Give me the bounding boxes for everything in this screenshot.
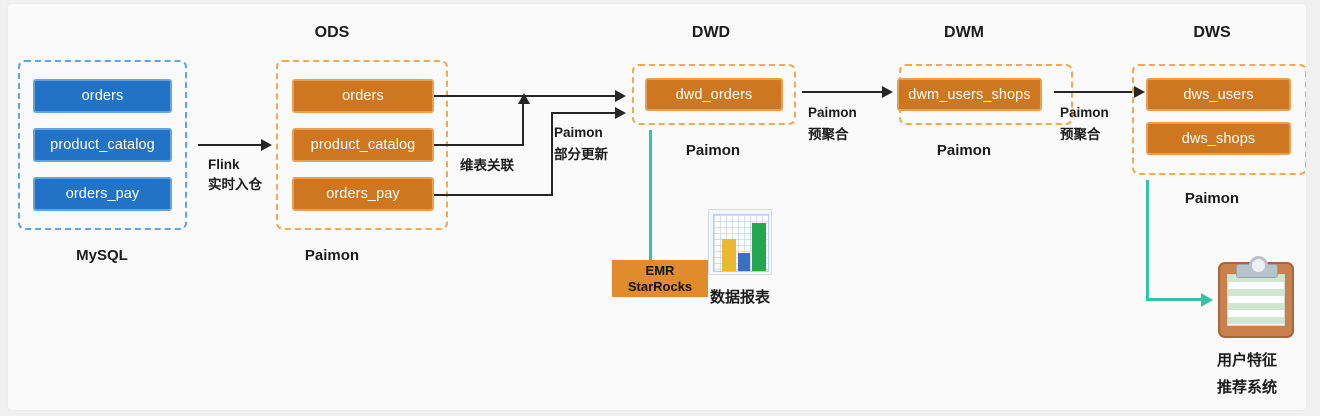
clipboard-row — [1228, 289, 1284, 296]
ods-table-product-catalog[interactable]: product_catalog — [292, 128, 434, 162]
edge-dim-join-arrowhead — [518, 93, 530, 104]
edge-label-dwd-dwm-line2: 预聚合 — [808, 125, 849, 145]
emr-starrocks-label-line1: EMR — [646, 263, 675, 279]
source-table-product-catalog[interactable]: product_catalog — [33, 128, 172, 162]
edge-dws-to-recommendation-arrowhead — [1201, 293, 1213, 307]
tier-label-ods: Paimon — [305, 247, 359, 264]
edge-partial-update-hline-top — [551, 112, 615, 114]
edge-label-partial-update-line2: 部分更新 — [554, 145, 608, 165]
bar-chart-bar-1 — [738, 253, 750, 271]
dws-table-dws-users[interactable]: dws_users — [1146, 78, 1291, 111]
edge-dim-join-vline — [522, 104, 524, 146]
edge-partial-update-arrowhead — [615, 107, 626, 119]
stage-title-dws: DWS — [1193, 24, 1230, 42]
edge-label-flink-line2: 实时入仓 — [208, 175, 262, 195]
tier-label-mysql: MySQL — [76, 247, 128, 264]
tier-label-dwd: Paimon — [686, 142, 740, 159]
dwd-table-dwd-orders[interactable]: dwd_orders — [645, 78, 783, 111]
edge-dwm-to-dws-line — [1054, 91, 1134, 93]
dws-table-dws-shops[interactable]: dws_shops — [1146, 122, 1291, 155]
edge-dwd-to-starrocks-vline — [649, 130, 652, 268]
edge-dwd-to-dwm-line — [802, 91, 882, 93]
edge-mysql-to-ods-line — [198, 144, 261, 146]
bar-chart-plot — [713, 214, 769, 272]
edge-dws-to-recommendation-hline — [1146, 298, 1201, 301]
edge-label-dwm-dws-line1: Paimon — [1060, 103, 1109, 123]
source-table-orders-pay[interactable]: orders_pay — [33, 177, 172, 211]
emr-starrocks-label-line2: StarRocks — [628, 279, 692, 295]
tier-label-dws: Paimon — [1185, 190, 1239, 207]
clipboard-row — [1228, 282, 1284, 289]
recommendation-label-line2: 推荐系统 — [1217, 376, 1277, 397]
clipboard-icon — [1218, 256, 1294, 338]
bar-chart-bar-2 — [752, 223, 766, 271]
edge-dim-join-hline — [434, 144, 524, 146]
edge-partial-update-hline-bottom — [434, 194, 553, 196]
diagram-canvas: ODS DWD DWM DWS orders product_catalog o… — [8, 4, 1306, 410]
edge-dwd-to-dwm-arrowhead — [882, 86, 893, 98]
stage-title-ods: ODS — [315, 24, 350, 42]
edge-label-partial-update-line1: Paimon — [554, 123, 603, 143]
ods-table-orders-pay[interactable]: orders_pay — [292, 177, 434, 211]
edge-partial-update-vline — [551, 112, 553, 196]
emr-starrocks-node[interactable]: EMR StarRocks — [612, 260, 708, 297]
edge-label-flink-line1: Flink — [208, 155, 240, 175]
edge-ods-orders-to-dwd-arrowhead — [615, 90, 626, 102]
source-table-orders[interactable]: orders — [33, 79, 172, 113]
clipboard-ring — [1249, 256, 1268, 275]
edge-mysql-to-ods-arrowhead — [261, 139, 272, 151]
edge-dws-to-recommendation-vline — [1146, 180, 1149, 301]
dwm-table-dwm-users-shops[interactable]: dwm_users_shops — [897, 78, 1042, 111]
stage-title-dwm: DWM — [944, 24, 984, 42]
edge-label-dwd-dwm-line1: Paimon — [808, 103, 857, 123]
clipboard-row — [1228, 317, 1284, 324]
clipboard-row — [1228, 296, 1284, 303]
clipboard-sheet — [1227, 274, 1285, 326]
bar-chart-bar-0 — [722, 239, 736, 271]
edge-label-dwm-dws-line2: 预聚合 — [1060, 125, 1101, 145]
clipboard-row — [1228, 303, 1284, 310]
recommendation-label-line1: 用户特征 — [1217, 349, 1277, 370]
bar-chart-icon — [708, 209, 772, 275]
stage-title-dwd: DWD — [692, 24, 730, 42]
clipboard-row — [1228, 310, 1284, 317]
ods-table-orders[interactable]: orders — [292, 79, 434, 113]
edge-label-dim-join: 维表关联 — [460, 156, 514, 176]
screenshot-root: ODS DWD DWM DWS orders product_catalog o… — [0, 0, 1320, 416]
data-report-label: 数据报表 — [710, 286, 770, 307]
tier-label-dwm: Paimon — [937, 142, 991, 159]
